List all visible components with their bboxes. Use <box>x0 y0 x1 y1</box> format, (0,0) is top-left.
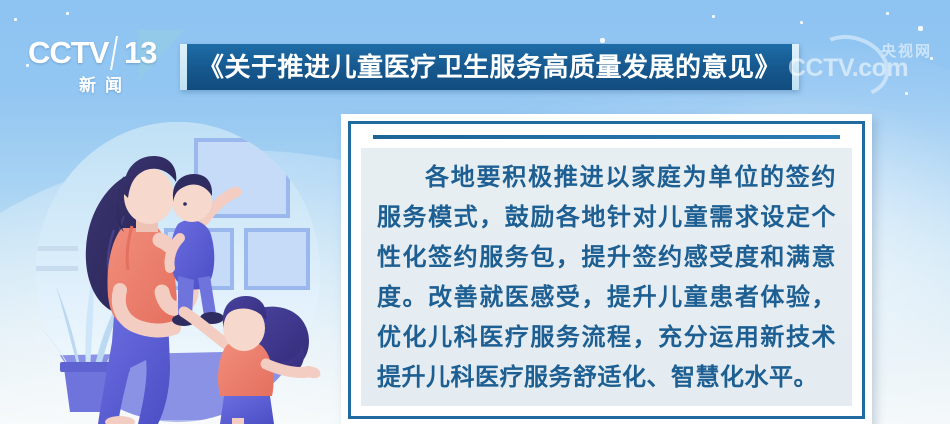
watermark-domain-text: CCTV.com <box>788 54 908 83</box>
banner-body: 《关于推进儿童医疗卫生服务高质量发展的意见》 <box>187 44 792 90</box>
watermark-chinese-text: 央视网 <box>881 40 932 61</box>
wall-frame <box>246 230 308 288</box>
banner-right-accent <box>792 44 799 90</box>
quote-panel: 各地要积极推进以家庭为单位的签约服务模式，鼓励各地针对儿童需求设定个性化签约服务… <box>341 114 872 424</box>
broadcast-news-frame: CCTV13 新闻 《关于推进儿童医疗卫生服务高质量发展的意见》 央视网 CCT… <box>0 0 950 424</box>
cctv-com-watermark: 央视网 CCTV.com <box>786 34 936 86</box>
logo-subtitle: 新闻 <box>28 71 174 96</box>
sparkle-dot <box>886 12 889 15</box>
sparkle-dot <box>66 12 69 15</box>
banner-left-accent <box>180 44 187 90</box>
sparkle-dot <box>905 92 908 95</box>
logo-wordmark: CCTV13 <box>28 36 174 70</box>
family-illustration-svg <box>18 120 338 424</box>
quote-text: 各地要积极推进以家庭为单位的签约服务模式，鼓励各地针对儿童需求设定个性化签约服务… <box>377 158 836 398</box>
quote-body: 各地要积极推进以家庭为单位的签约服务模式，鼓励各地针对儿童需求设定个性化签约服务… <box>361 148 852 406</box>
sparkle-dot <box>14 18 17 21</box>
sparkle-dot <box>918 26 923 31</box>
girl-arm <box>266 364 308 373</box>
panel-top-rule <box>373 135 840 139</box>
quote-panel-inner: 各地要积极推进以家庭为单位的签约服务模式，鼓励各地针对儿童需求设定个性化签约服务… <box>348 121 865 419</box>
page-title: 《关于推进儿童医疗卫生服务高质量发展的意见》 <box>198 54 781 80</box>
logo-cctv-text: CCTV <box>28 35 108 70</box>
family-illustration <box>18 120 338 424</box>
sparkle-dot <box>712 15 715 18</box>
sparkle-dot <box>600 38 605 43</box>
cctv-arc-icon <box>805 25 898 106</box>
headline-banner: 《关于推进儿童医疗卫生服务高质量发展的意见》 <box>180 44 799 90</box>
logo-channel-number: 13 <box>110 36 165 70</box>
girl-skirt <box>220 396 274 424</box>
sparkle-dot <box>800 21 803 24</box>
cctv13-channel-logo: CCTV13 新闻 <box>28 36 174 98</box>
sparkle-dot <box>930 57 933 60</box>
